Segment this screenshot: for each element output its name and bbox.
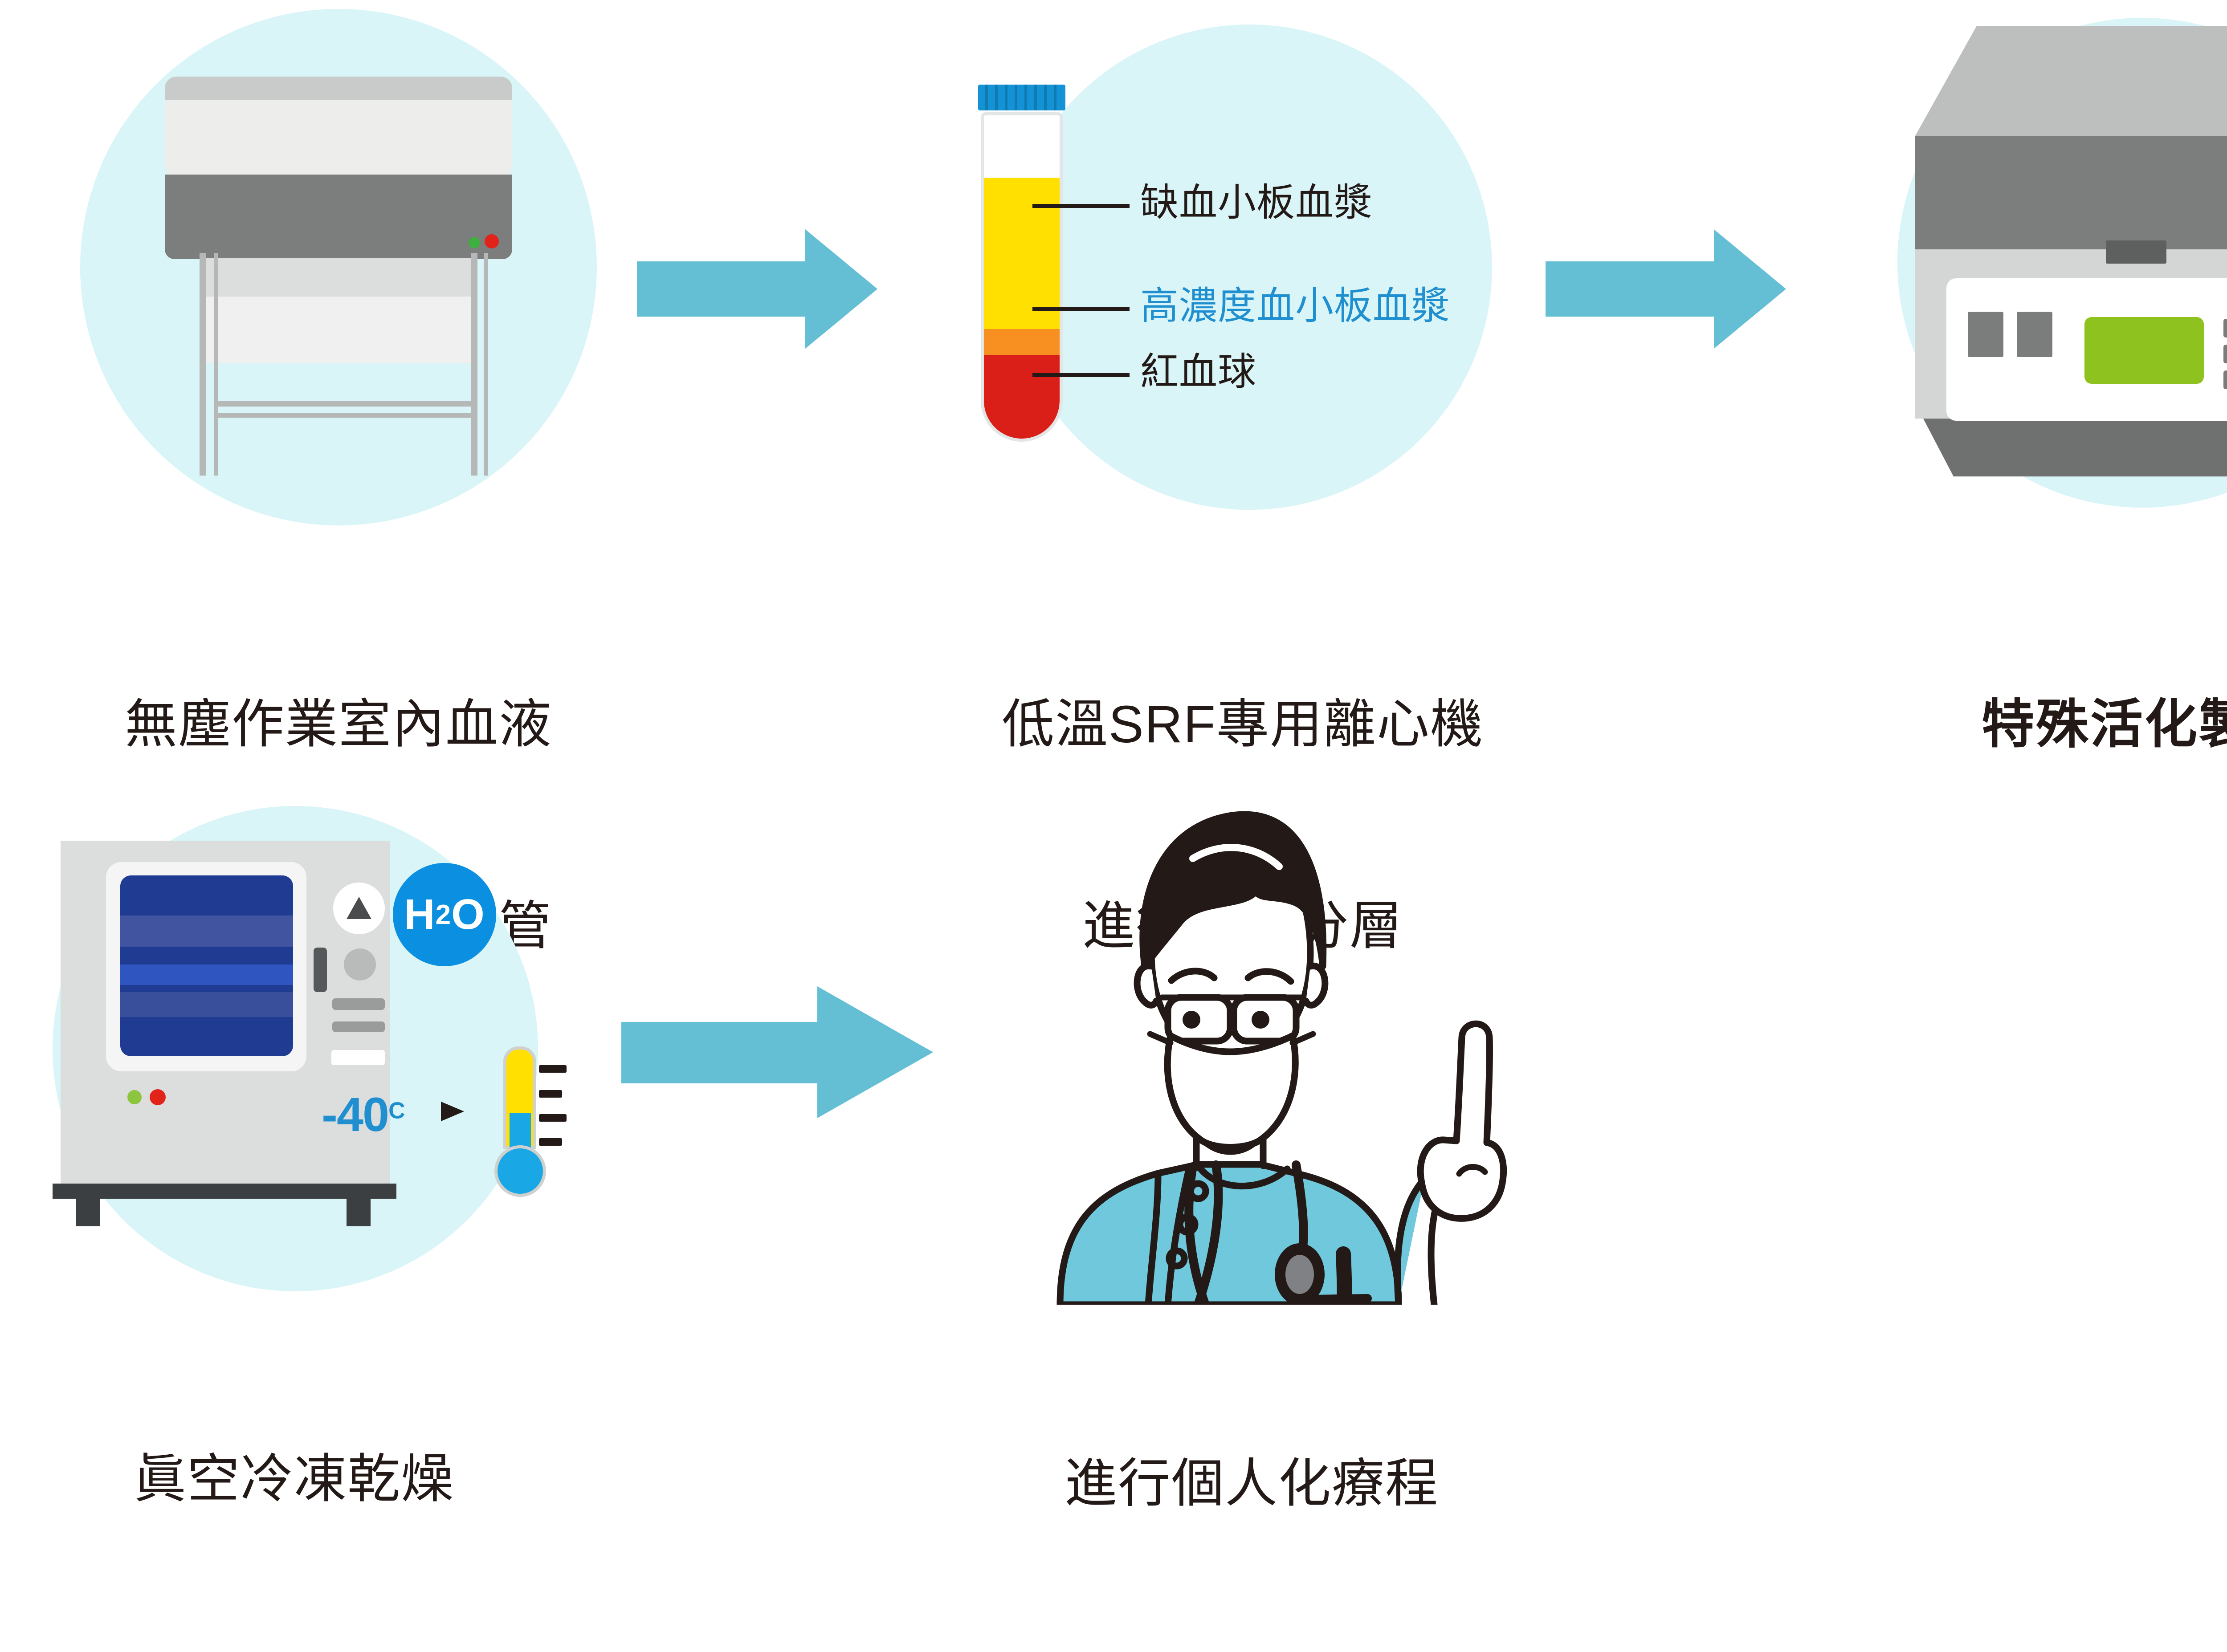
thermometer-tick xyxy=(539,1114,567,1122)
bench-leg-right xyxy=(471,253,477,476)
dryer-green-light-icon xyxy=(127,1090,142,1104)
dryer-slot-2 xyxy=(332,1021,385,1032)
h2o-label-sub: 2 xyxy=(436,899,451,931)
bench-leg-left-2 xyxy=(214,253,218,476)
machine-lcd-display xyxy=(2084,317,2204,384)
h2o-badge: H2O xyxy=(393,863,496,966)
machine-keypad-key[interactable] xyxy=(2223,345,2227,363)
h2o-label-h: H xyxy=(404,890,435,939)
step-4-caption: 眞空冷凍乾燥 xyxy=(49,1311,539,1648)
arrow-step4-to-step5 xyxy=(621,986,933,1120)
dryer-slot-1 xyxy=(332,998,385,1010)
tube-layer-buffy-coat xyxy=(984,329,1060,355)
arrow-step2-to-step3 xyxy=(1546,229,1786,350)
tube-layer-plasma xyxy=(984,178,1060,329)
step-3-caption: 特殊活化製程 xyxy=(1871,557,2227,893)
dryer-red-light-icon xyxy=(150,1089,166,1105)
tube-label-prp: 高濃度血小板血漿 xyxy=(1140,287,1450,325)
doctor-illustration xyxy=(949,788,1510,1305)
bench-interior-lower xyxy=(201,297,476,363)
process-diagram: 無塵作業室內血液 分裝入無菌離心管 xyxy=(0,0,2227,1529)
bench-cross-bar xyxy=(214,401,477,407)
dryer-power-button[interactable] xyxy=(333,883,385,934)
tube-cap xyxy=(978,85,1065,110)
machine-button-2[interactable] xyxy=(2017,312,2052,357)
dryer-knob[interactable] xyxy=(344,948,376,981)
dryer-foot-left xyxy=(76,1199,100,1226)
thermometer-icon xyxy=(477,1046,575,1225)
centrifuge-tube-icon: 缺血小板血漿 高濃度血小板血漿 紅血球 xyxy=(958,85,1492,476)
triangle-icon xyxy=(333,883,385,934)
activation-machine-icon xyxy=(1897,18,2227,508)
tube-layer-red-cells xyxy=(984,355,1060,439)
freeze-dryer-icon: H2O -40C xyxy=(53,806,587,1291)
temperature-pointer-icon xyxy=(436,1095,468,1127)
red-indicator-icon xyxy=(485,234,499,248)
doctor-icon xyxy=(949,788,1510,1305)
machine-keypad-key[interactable] xyxy=(2223,370,2227,389)
machine-keypad-key[interactable] xyxy=(2223,319,2227,338)
arrow-step1-to-step2 xyxy=(637,229,877,350)
machine-shell xyxy=(1897,18,2227,508)
leader-line-prp xyxy=(1032,307,1130,311)
bench-cross-bar-2 xyxy=(214,413,477,418)
step-1-caption-line1: 無塵作業室內血液 xyxy=(27,691,650,758)
arrow-right-icon xyxy=(1546,229,1786,350)
step-4-caption-line1: 眞空冷凍乾燥 xyxy=(49,1446,539,1513)
h2o-label-o: O xyxy=(451,890,485,939)
step-2-caption-line1: 低溫SRF專用離心機 xyxy=(931,691,1554,758)
clean-bench-icon xyxy=(80,9,597,525)
thermometer-tick xyxy=(539,1065,567,1073)
bench-front-band xyxy=(165,175,512,259)
dryer-view-window xyxy=(120,875,293,1056)
thermometer-tick xyxy=(539,1090,562,1098)
temperature-unit: C xyxy=(388,1098,404,1123)
leader-line-rbc xyxy=(1032,373,1130,377)
bench-interior-upper xyxy=(201,258,476,297)
green-indicator-icon xyxy=(469,237,480,248)
machine-lid-latch[interactable] xyxy=(2106,240,2166,264)
temperature-label: -40C xyxy=(322,1086,404,1142)
step-3-caption-line1: 特殊活化製程 xyxy=(1871,691,2227,758)
bench-leg-right-2 xyxy=(484,253,488,476)
tube-body xyxy=(981,112,1063,442)
temperature-value: -40 xyxy=(322,1087,388,1141)
dryer-base-bar xyxy=(53,1184,396,1199)
arrow-right-icon xyxy=(621,986,933,1120)
dryer-label-strip xyxy=(331,1050,385,1065)
step-5-caption: 進行個人化療程 xyxy=(980,1316,1523,1652)
bench-leg-left xyxy=(200,253,206,476)
machine-button-1[interactable] xyxy=(1968,312,2003,357)
step-5-caption-line1: 進行個人化療程 xyxy=(980,1450,1523,1518)
dryer-door-handle[interactable] xyxy=(314,948,327,992)
tube-label-rbc: 紅血球 xyxy=(1140,353,1256,391)
arrow-right-icon xyxy=(637,229,877,350)
dryer-foot-right xyxy=(347,1199,371,1226)
thermometer-tick xyxy=(539,1138,562,1146)
tube-label-plasma: 缺血小板血漿 xyxy=(1140,183,1373,222)
thermometer-bulb xyxy=(494,1145,546,1197)
leader-line-plasma xyxy=(1032,204,1130,208)
